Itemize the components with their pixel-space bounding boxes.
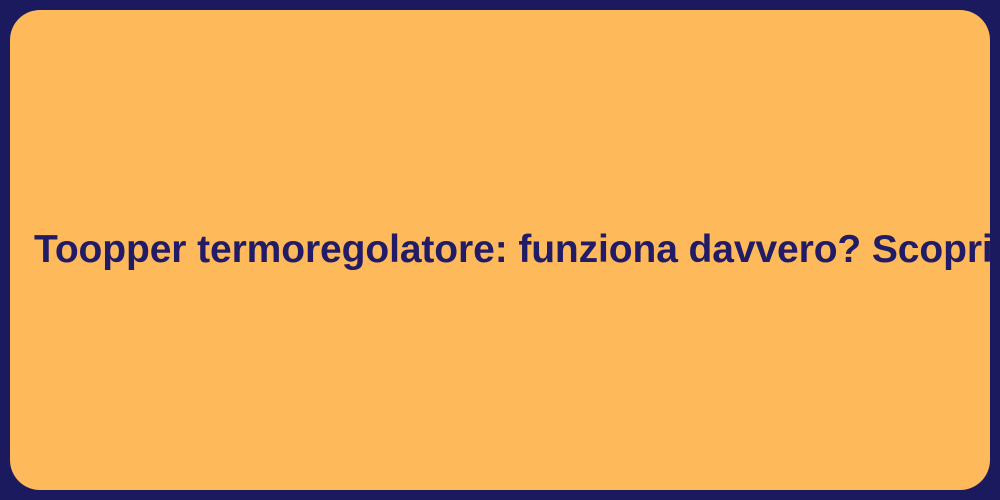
banner-frame: Toopper termoregolatore: funziona davver… xyxy=(0,0,1000,500)
banner-headline: Toopper termoregolatore: funziona davver… xyxy=(34,226,966,275)
headline-container: Toopper termoregolatore: funziona davver… xyxy=(10,226,990,275)
banner-card: Toopper termoregolatore: funziona davver… xyxy=(10,10,990,490)
